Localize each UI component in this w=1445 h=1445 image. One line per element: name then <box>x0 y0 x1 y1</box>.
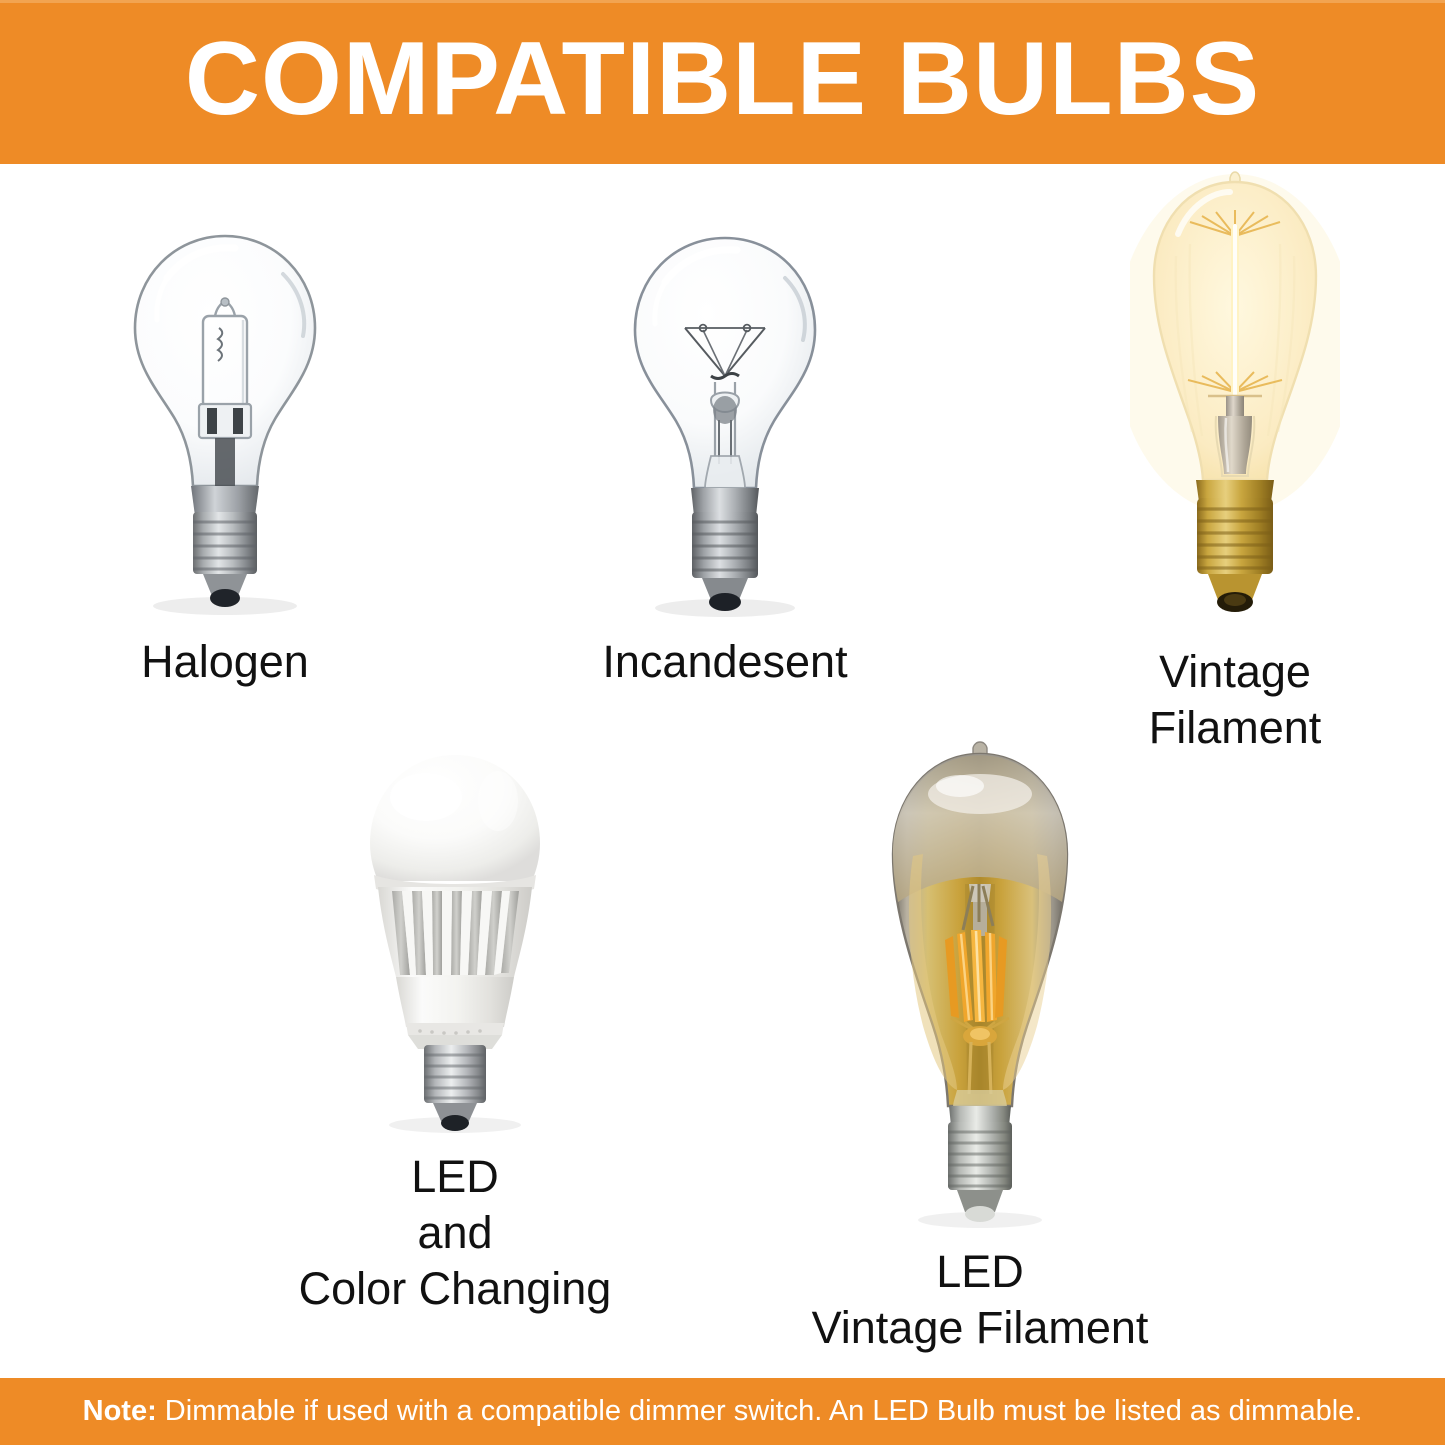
footer-note: Note: Dimmable if used with a compatible… <box>0 1378 1445 1445</box>
header-banner: COMPATIBLE BULBS <box>0 0 1445 164</box>
page-title: COMPATIBLE BULBS <box>0 14 1445 144</box>
bulb-card-halogen[interactable]: Halogen <box>25 224 425 690</box>
bulb-grid: Halogen <box>0 164 1445 1378</box>
bulb-card-vintage-filament[interactable]: Vintage Filament <box>1035 164 1435 756</box>
header-top-highlight-line <box>0 0 1445 3</box>
footer-note-bar: Note: Dimmable if used with a compatible… <box>0 1378 1445 1445</box>
halogen-bulb-icon <box>115 224 335 624</box>
bulb-card-led-color-changing[interactable]: LED and Color Changing <box>245 739 665 1317</box>
led-bulb-icon <box>348 739 563 1139</box>
vintage-filament-bulb-icon <box>1130 164 1340 634</box>
footer-note-body: Dimmable if used with a compatible dimme… <box>157 1395 1363 1427</box>
bulb-label-led-vintage-filament: LED Vintage Filament <box>770 1244 1190 1356</box>
bulb-label-led-color-changing: LED and Color Changing <box>245 1149 665 1317</box>
bulb-card-incandesent[interactable]: Incandesent <box>525 224 925 690</box>
bulb-label-halogen: Halogen <box>25 634 425 690</box>
bulb-card-led-vintage-filament[interactable]: LED Vintage Filament <box>770 734 1190 1356</box>
incandescent-bulb-icon <box>615 224 835 624</box>
led-vintage-filament-bulb-icon <box>865 734 1095 1234</box>
bulb-label-incandesent: Incandesent <box>525 634 925 690</box>
footer-note-label: Note: <box>83 1395 157 1427</box>
